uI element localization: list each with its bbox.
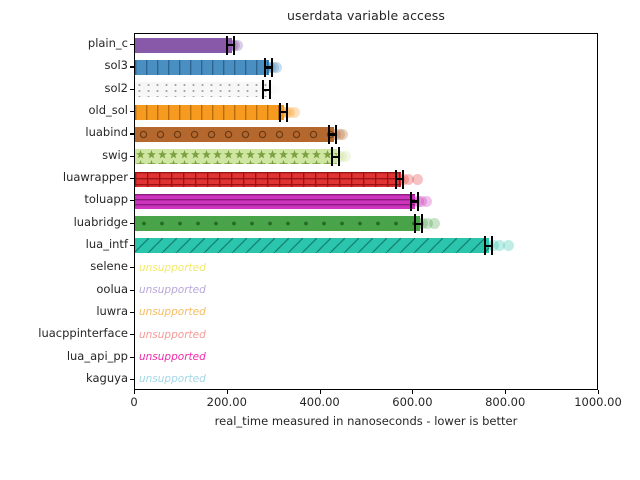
page-title: userdata variable access (134, 8, 598, 23)
bar-row (135, 34, 597, 56)
y-tick-mark (130, 44, 134, 45)
y-tick-mark (130, 111, 134, 112)
y-tick-mark (130, 223, 134, 224)
bar-swig (135, 149, 337, 164)
x-tick-label: 0 (89, 395, 179, 409)
x-tick-mark (134, 390, 135, 394)
scatter-dot (269, 84, 280, 95)
plot-area: unsupportedunsupportedunsupportedunsuppo… (134, 33, 598, 390)
error-bar (484, 236, 493, 255)
bar-row (135, 79, 597, 101)
scatter-dot (271, 62, 282, 73)
y-tick-label-lua_api_pp: lua_api_pp (2, 349, 128, 363)
y-tick-label-luwra: luwra (2, 304, 128, 318)
y-tick-mark (130, 245, 134, 246)
chart-figure: userdata variable access plain_csol3sol2… (0, 0, 640, 480)
y-tick-label-selene: selene (2, 259, 128, 273)
bar-row (135, 101, 597, 123)
y-tick-label-luawrapper: luawrapper (2, 170, 128, 184)
y-tick-mark (130, 66, 134, 67)
error-bar (414, 214, 423, 233)
bar-row (135, 235, 597, 257)
y-tick-mark (130, 89, 134, 90)
error-bar (410, 192, 419, 211)
bar-lua_intf (135, 238, 489, 253)
bar-luabridge (135, 216, 420, 231)
bar-luawrapper (135, 172, 401, 187)
scatter-dot (429, 218, 440, 229)
error-bar (226, 36, 235, 55)
y-tick-label-plain_c: plain_c (2, 36, 128, 50)
unsupported-label: unsupported (139, 350, 206, 365)
bar-sol2 (135, 82, 267, 97)
error-bar (331, 147, 340, 166)
bar-row (135, 146, 597, 168)
scatter-dot (337, 129, 348, 140)
y-tick-label-luabridge: luabridge (2, 215, 128, 229)
scatter-dot (340, 151, 351, 162)
error-bar (264, 58, 273, 77)
bar-row (135, 213, 597, 235)
y-tick-label-luacppinterface: luacppinterface (2, 326, 128, 340)
bar-row: unsupported (135, 257, 597, 279)
y-tick-label-toluapp: toluapp (2, 192, 128, 206)
x-tick-label: 400.00 (275, 395, 365, 409)
bar-row: unsupported (135, 302, 597, 324)
x-tick-mark (598, 390, 599, 394)
y-tick-mark (130, 267, 134, 268)
y-tick-mark (130, 200, 134, 201)
y-tick-mark (130, 357, 134, 358)
scatter-dot (403, 174, 414, 185)
bar-row: unsupported (135, 369, 597, 390)
bar-row (135, 168, 597, 190)
bar-row: unsupported (135, 324, 597, 346)
bar-luabind (135, 127, 334, 142)
y-tick-mark (130, 334, 134, 335)
scatter-dot (421, 196, 432, 207)
y-axis-tick-labels: plain_csol3sol2old_solluabindswigluawrap… (0, 33, 128, 390)
bar-row: unsupported (135, 279, 597, 301)
y-tick-label-sol3: sol3 (2, 58, 128, 72)
error-bar (279, 103, 288, 122)
scatter-dot (503, 240, 514, 251)
bar-row (135, 123, 597, 145)
y-tick-label-lua_intf: lua_intf (2, 237, 128, 251)
unsupported-label: unsupported (139, 328, 206, 343)
error-bar (262, 80, 271, 99)
x-axis-label: real_time measured in nanoseconds - lowe… (134, 414, 598, 428)
unsupported-label: unsupported (139, 283, 206, 298)
bar-sol3 (135, 60, 269, 75)
x-tick-label: 800.00 (460, 395, 550, 409)
bar-plain_c (135, 38, 232, 53)
bar-old_sol (135, 105, 284, 120)
unsupported-label: unsupported (139, 261, 206, 276)
bar-toluapp (135, 194, 415, 209)
x-tick-mark (320, 390, 321, 394)
y-tick-label-sol2: sol2 (2, 81, 128, 95)
y-tick-label-old_sol: old_sol (2, 103, 128, 117)
y-tick-label-oolua: oolua (2, 282, 128, 296)
y-tick-mark (130, 312, 134, 313)
bar-row: unsupported (135, 346, 597, 368)
y-tick-mark (130, 290, 134, 291)
x-tick-label: 600.00 (367, 395, 457, 409)
scatter-dot (494, 240, 505, 251)
x-tick-label: 200.00 (182, 395, 272, 409)
error-bar (395, 170, 404, 189)
y-tick-label-kaguya: kaguya (2, 371, 128, 385)
unsupported-label: unsupported (139, 372, 206, 387)
y-tick-label-luabind: luabind (2, 125, 128, 139)
scatter-dot (289, 107, 300, 118)
y-tick-mark (130, 156, 134, 157)
y-tick-label-swig: swig (2, 148, 128, 162)
unsupported-label: unsupported (139, 305, 206, 320)
x-tick-mark (412, 390, 413, 394)
x-tick-label: 1000.00 (553, 395, 640, 409)
x-tick-mark (227, 390, 228, 394)
y-tick-mark (130, 133, 134, 134)
bar-row (135, 56, 597, 78)
y-tick-mark (130, 379, 134, 380)
bar-row (135, 190, 597, 212)
error-bar (328, 125, 337, 144)
scatter-dot (422, 218, 433, 229)
scatter-dot (412, 174, 423, 185)
x-tick-mark (505, 390, 506, 394)
y-tick-mark (130, 178, 134, 179)
